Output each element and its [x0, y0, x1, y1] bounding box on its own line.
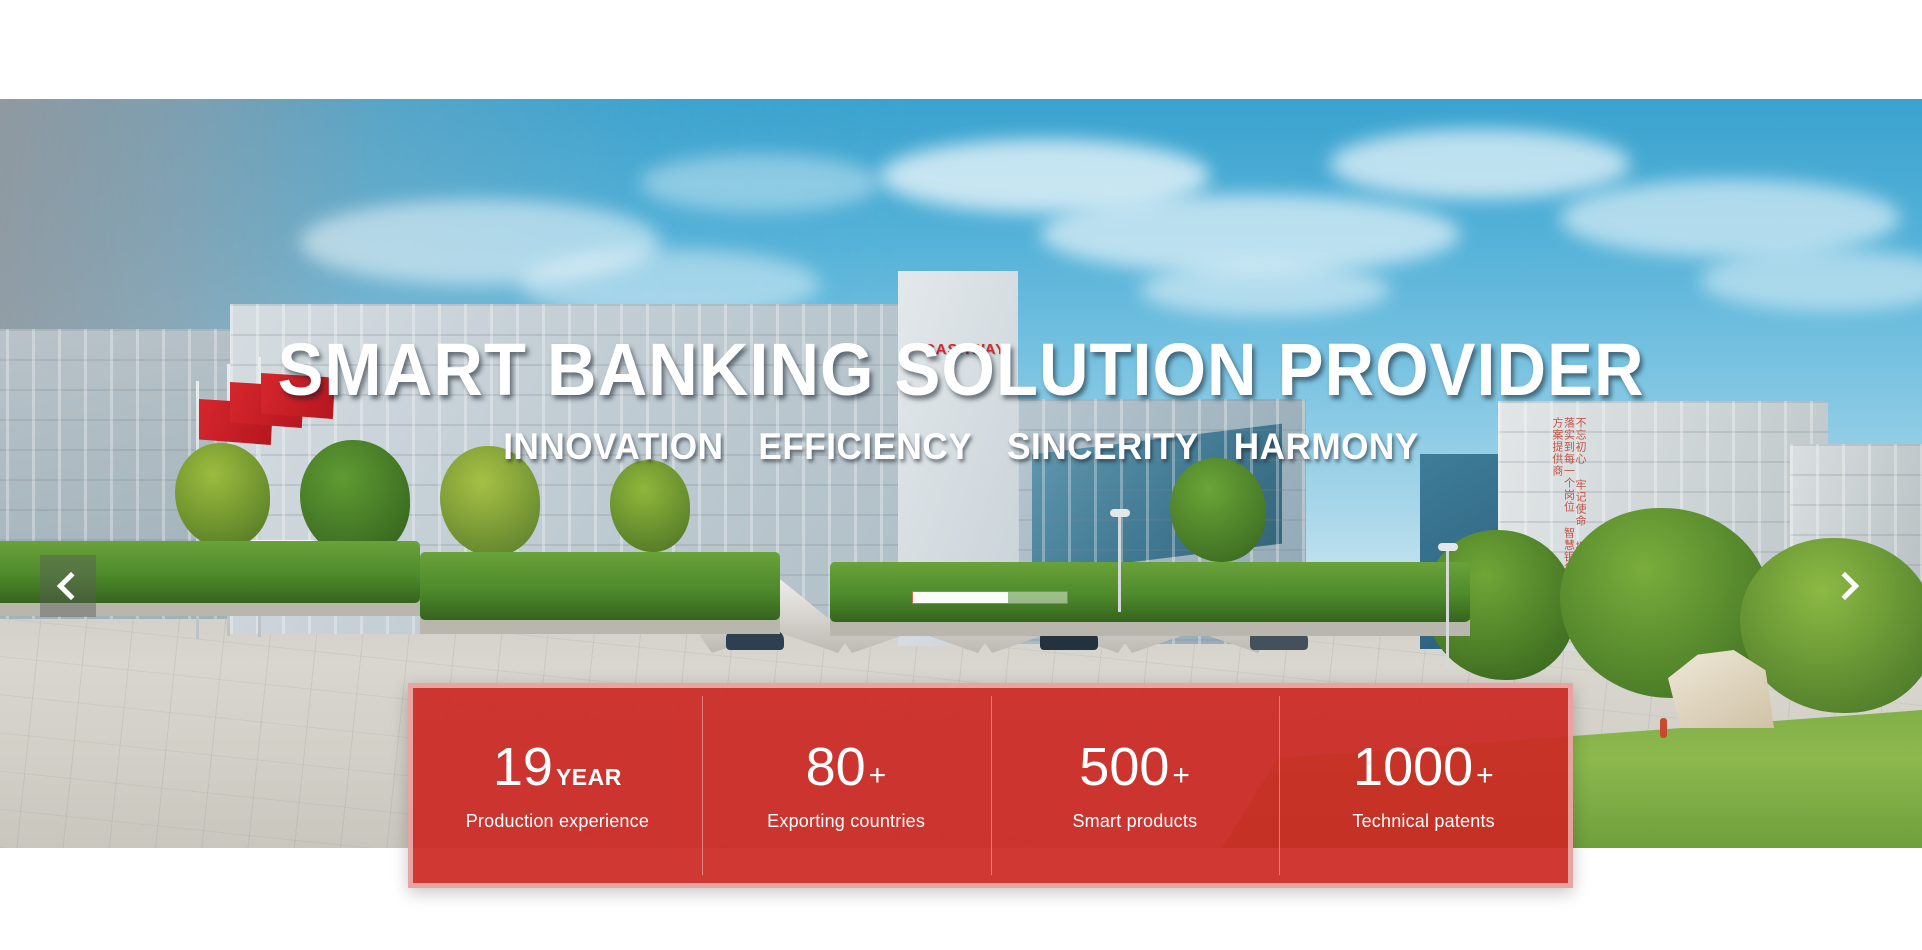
carousel-prev-button[interactable]	[40, 555, 96, 617]
tree	[175, 443, 270, 548]
pedestrian	[1660, 718, 1667, 738]
cloud-shape	[1330, 129, 1630, 199]
stat-number: 80	[806, 740, 866, 794]
cloud-shape	[1700, 249, 1922, 311]
stat-item-exporting-countries: 80 + Exporting countries	[702, 688, 991, 883]
street-lamp	[1446, 548, 1449, 668]
street-lamp	[1118, 514, 1121, 612]
chevron-left-icon	[57, 572, 85, 600]
stats-bar: 19 YEAR Production experience 80 + Expor…	[408, 683, 1573, 888]
cloud-shape	[1140, 264, 1390, 316]
stat-label: Technical patents	[1352, 811, 1495, 832]
stat-number: 1000	[1353, 740, 1473, 794]
stat-number-group: 500 +	[1079, 740, 1190, 794]
cashway-flag	[261, 373, 335, 419]
hedge-kerb	[830, 620, 1470, 636]
stat-suffix: YEAR	[556, 766, 622, 789]
stat-suffix: +	[1172, 761, 1190, 791]
slide-progress-fill	[913, 592, 1008, 603]
cloud-shape	[640, 154, 880, 212]
stat-item-smart-products: 500 + Smart products	[991, 688, 1280, 883]
stat-number-group: 80 +	[806, 740, 887, 794]
hedge-kerb	[420, 618, 780, 634]
stat-number-group: 1000 +	[1353, 740, 1494, 794]
carousel-next-button[interactable]	[1820, 555, 1876, 617]
stat-item-production-experience: 19 YEAR Production experience	[413, 688, 702, 883]
stat-number: 500	[1079, 740, 1169, 794]
cloud-shape	[1040, 194, 1460, 274]
tree	[610, 460, 690, 552]
chevron-right-icon	[1831, 572, 1859, 600]
hedge-row	[420, 552, 780, 620]
tree	[1170, 458, 1266, 562]
cloud-shape	[1560, 179, 1900, 257]
stat-label: Production experience	[466, 811, 649, 832]
page-root: CASHWAY 不忘初心 牢记使命 把党建工作落实到每一个岗位 智慧银行解决方案…	[0, 0, 1922, 950]
stat-item-technical-patents: 1000 + Technical patents	[1279, 688, 1568, 883]
stat-label: Exporting countries	[767, 811, 925, 832]
cashway-building-logo: CASHWAY	[915, 341, 1015, 358]
stat-label: Smart products	[1072, 811, 1197, 832]
stat-suffix: +	[869, 761, 887, 791]
stat-number: 19	[493, 740, 553, 794]
stat-number-group: 19 YEAR	[493, 740, 622, 794]
slide-progress-indicator[interactable]	[912, 591, 1068, 604]
stat-suffix: +	[1476, 761, 1494, 791]
